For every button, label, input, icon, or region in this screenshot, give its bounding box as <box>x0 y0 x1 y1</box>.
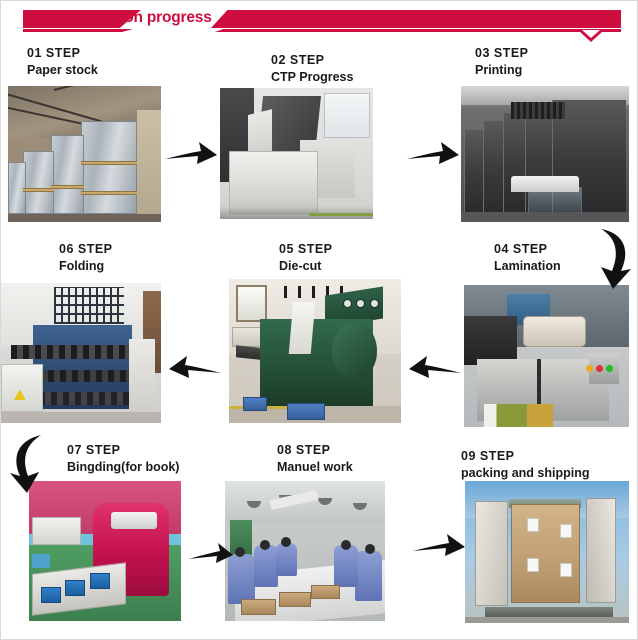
arrow-07-to-08-icon <box>187 541 235 571</box>
banner-chevron-down-inner <box>582 30 600 38</box>
header-banner: Production progress <box>1 1 638 41</box>
arrow-04-to-05-icon <box>407 353 463 387</box>
step-label-04: 04 STEP Lamination <box>494 241 561 275</box>
banner-right-shape <box>211 10 621 28</box>
arrow-06-to-07-icon <box>3 433 47 495</box>
photo-printing <box>461 86 629 222</box>
photo-packing-shipping <box>465 481 629 623</box>
photo-ctp-progress <box>220 88 373 219</box>
arrow-08-to-09-icon <box>411 531 467 565</box>
step-label-01: 01 STEP Paper stock <box>27 45 98 79</box>
arrow-03-to-04-icon <box>593 227 638 291</box>
step-label-05: 05 STEP Die-cut <box>279 241 333 275</box>
step-label-02: 02 STEP CTP Progress <box>271 52 353 86</box>
arrow-01-to-02-icon <box>163 139 219 173</box>
arrow-05-to-06-icon <box>167 353 223 387</box>
page-title: Production progress <box>63 9 212 27</box>
photo-lamination <box>464 285 629 427</box>
step-label-06: 06 STEP Folding <box>59 241 113 275</box>
banner-left-underline <box>23 29 133 32</box>
step-label-07: 07 STEP Bingding(for book) <box>67 442 179 476</box>
production-progress-infographic: Production progress 01 STEP Paper stock … <box>0 0 638 640</box>
banner-right-underline <box>215 29 621 32</box>
photo-die-cut <box>229 279 401 423</box>
photo-paper-stock <box>8 86 161 222</box>
step-label-08: 08 STEP Manuel work <box>277 442 353 476</box>
photo-binding <box>29 481 181 621</box>
arrow-02-to-03-icon <box>405 139 461 173</box>
step-label-03: 03 STEP Printing <box>475 45 529 79</box>
photo-manual-work <box>225 481 385 621</box>
step-label-09: 09 STEP packing and shipping <box>461 448 589 482</box>
photo-folding <box>1 283 161 423</box>
